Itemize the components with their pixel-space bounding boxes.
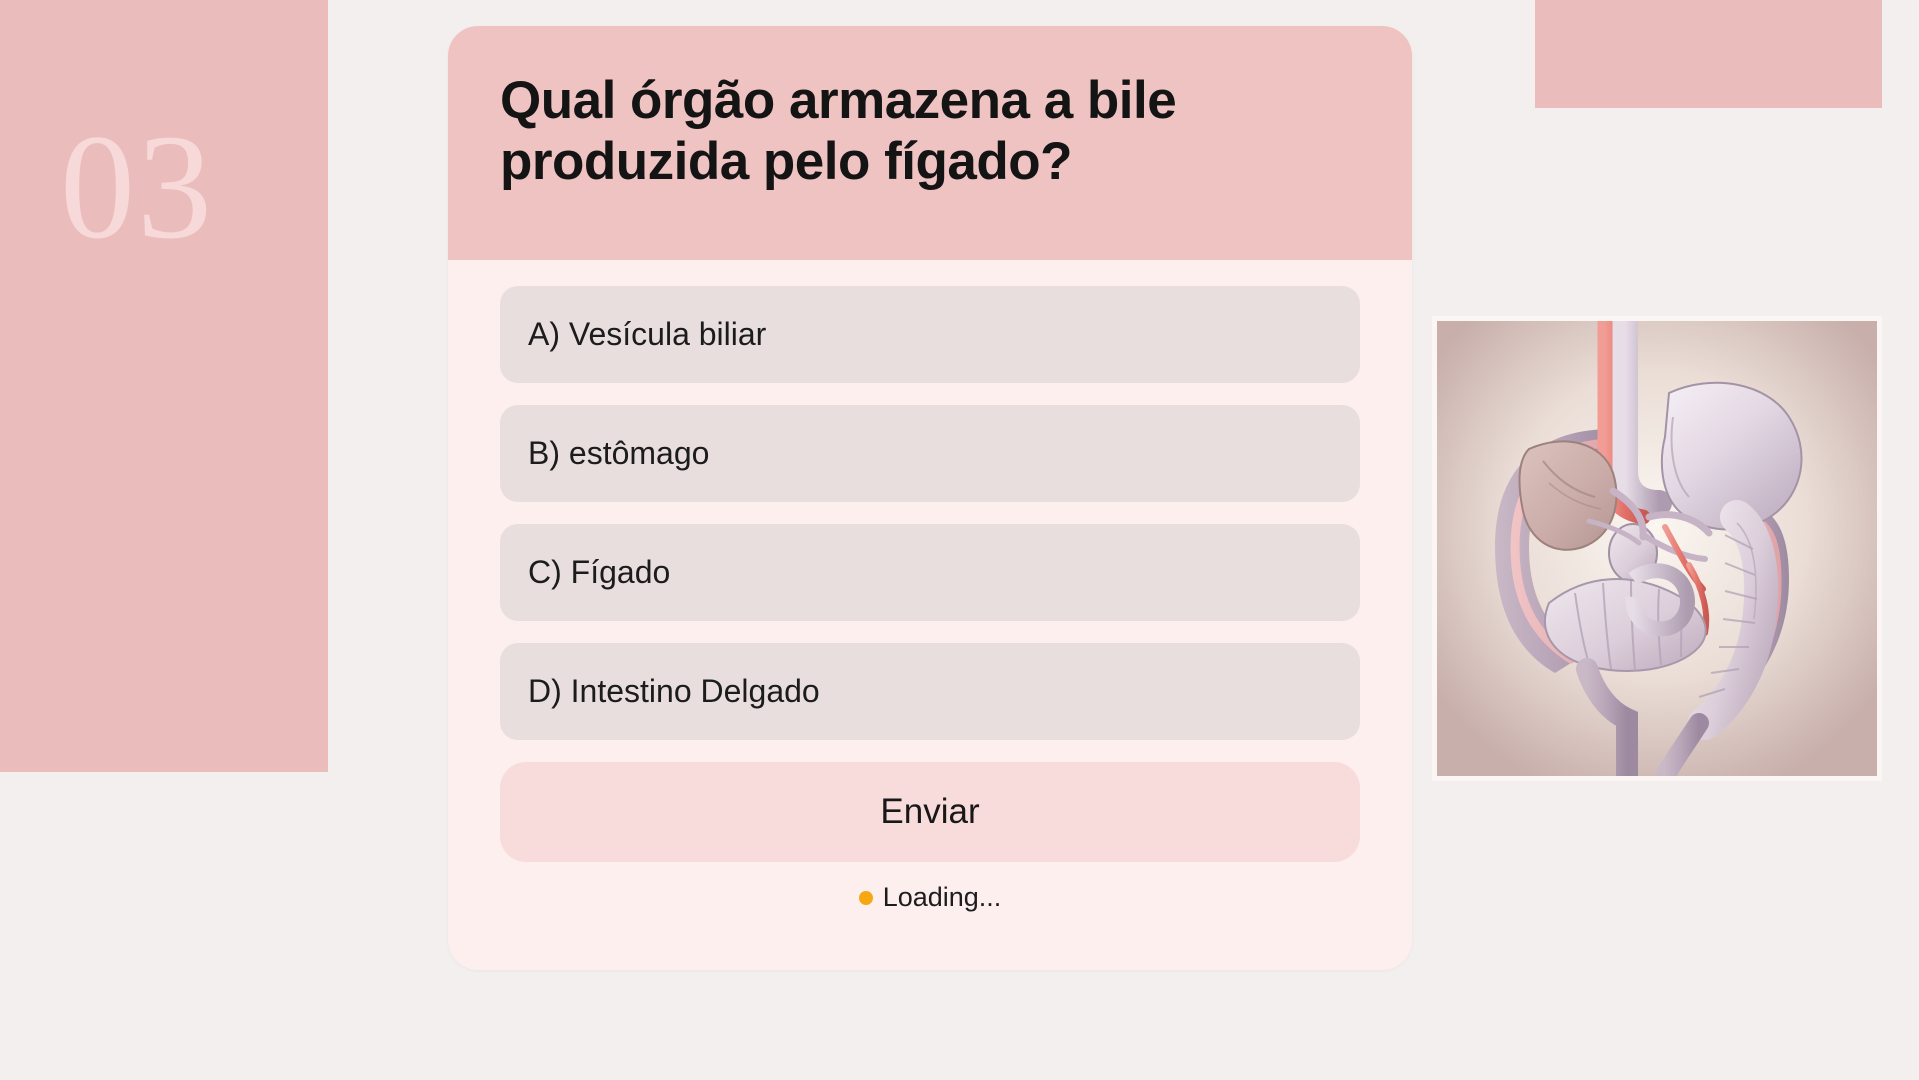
digestive-system-illustration <box>1432 316 1882 781</box>
top-right-accent-block <box>1535 0 1882 108</box>
status-dot-icon <box>859 891 873 905</box>
option-row-b[interactable]: B) estômago <box>500 405 1360 502</box>
loading-status-label: Loading... <box>883 882 1002 913</box>
option-row-a[interactable]: A) Vesícula biliar <box>500 286 1360 383</box>
loading-status: Loading... <box>500 882 1360 913</box>
quiz-card-body: A) Vesícula biliar B) estômago C) Fígado… <box>448 260 1412 913</box>
question-text: Qual órgão armazena a bile produzida pel… <box>500 70 1360 193</box>
submit-button-label: Enviar <box>880 792 979 832</box>
option-row-c[interactable]: C) Fígado <box>500 524 1360 621</box>
quiz-card-header: Qual órgão armazena a bile produzida pel… <box>448 26 1412 260</box>
option-label-d: D) Intestino Delgado <box>528 673 820 710</box>
liver <box>1519 441 1616 549</box>
option-label-b: B) estômago <box>528 435 709 472</box>
option-label-c: C) Fígado <box>528 554 670 591</box>
option-label-a: A) Vesícula biliar <box>528 316 766 353</box>
digestive-system-illustration-svg <box>1437 321 1877 776</box>
step-number: 03 <box>60 112 214 262</box>
submit-button[interactable]: Enviar <box>500 762 1360 862</box>
quiz-card: Qual órgão armazena a bile produzida pel… <box>448 26 1412 970</box>
option-row-d[interactable]: D) Intestino Delgado <box>500 643 1360 740</box>
